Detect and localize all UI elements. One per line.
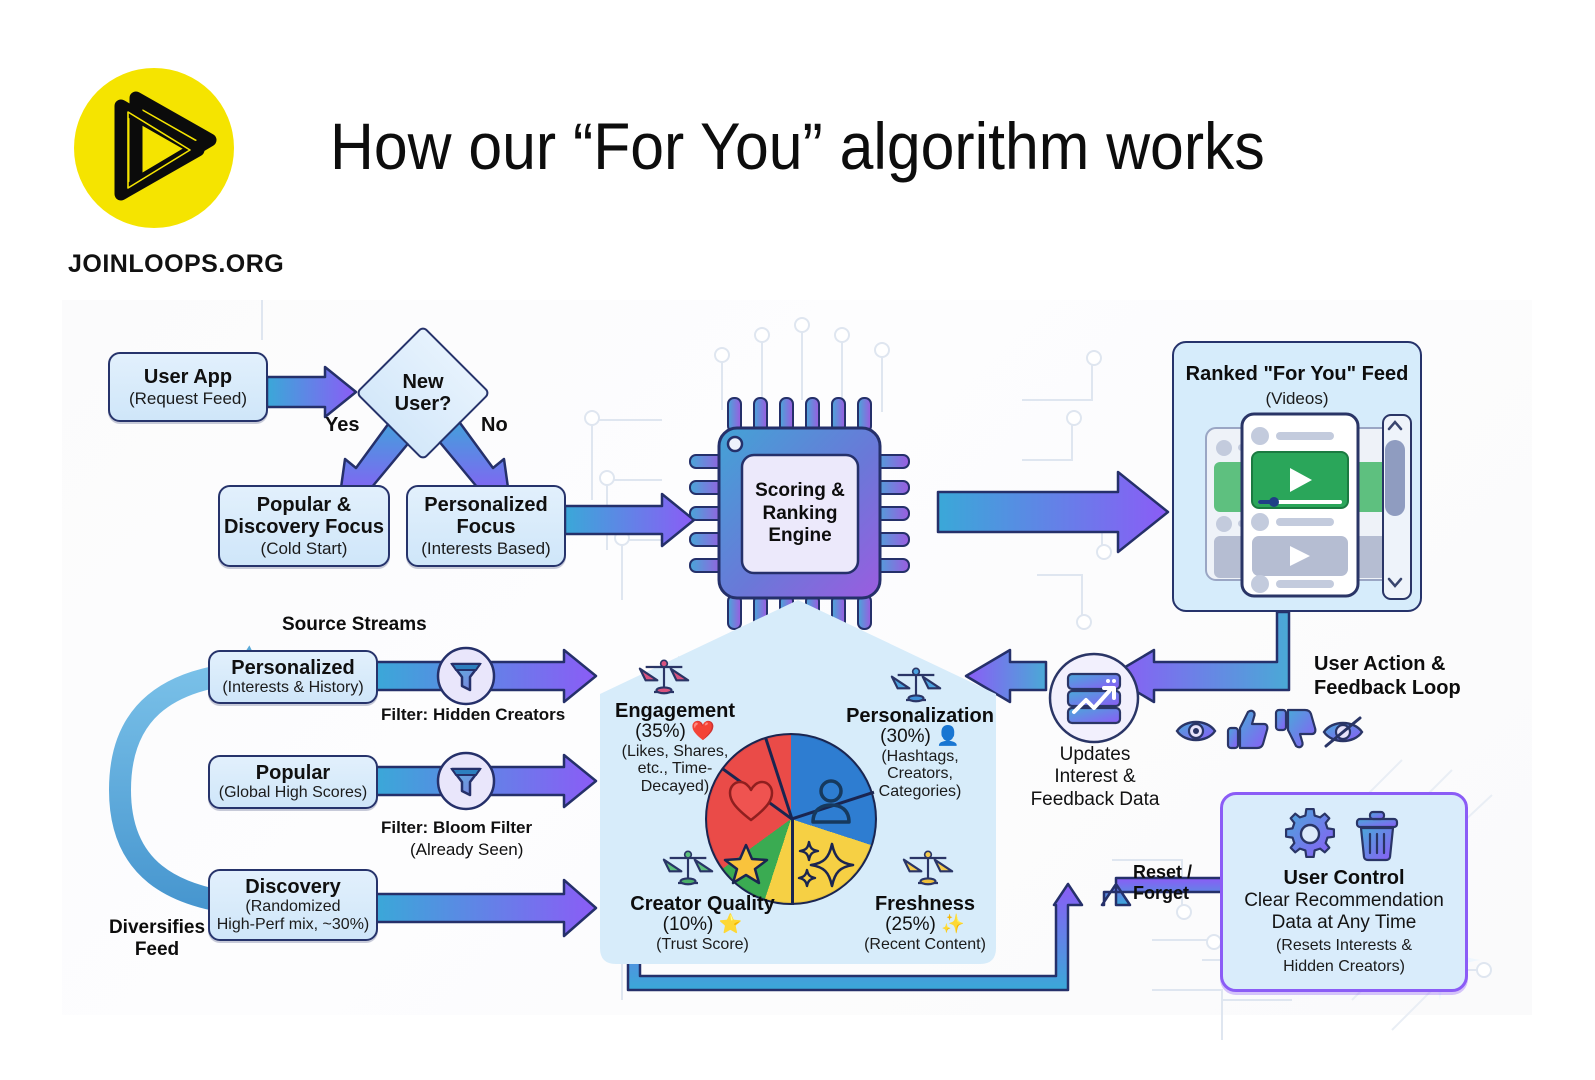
- infographic-canvas: JOINLOOPS.ORG How our “For You” algorith…: [0, 0, 1595, 1080]
- node-personalized-focus-sub: (Interests Based): [421, 539, 550, 558]
- sparkles-emoji-icon: ✨: [941, 914, 965, 935]
- user-control-note-1: (Resets Interests &: [1276, 937, 1412, 955]
- arrow-discovery-stream: [375, 880, 596, 936]
- feedback-loop-title-1: User Action &: [1314, 653, 1461, 677]
- user-control-line-2: Data at Any Time: [1272, 912, 1417, 934]
- diversifies-feed-label-2: Feed: [97, 939, 217, 961]
- wedge-freshness-pct-value: (25%): [885, 914, 936, 935]
- user-control-icons: [1279, 807, 1409, 863]
- node-stream-popular-title: Popular: [256, 762, 330, 784]
- node-cold-start-title-2: Discovery Focus: [224, 516, 384, 538]
- node-user-app-sub: (Request Feed): [129, 389, 247, 408]
- wedge-freshness-desc-1: (Recent Content): [840, 936, 1010, 954]
- wedge-personalization-name: Personalization: [840, 705, 1000, 727]
- scales-icon: [888, 665, 944, 705]
- wedge-engagement-desc-3: Decayed): [600, 778, 750, 796]
- node-user-app-title: User App: [144, 366, 232, 388]
- reset-forget-label: Reset / Forget: [1133, 862, 1192, 904]
- wedge-personalization-pct-value: (30%): [880, 726, 931, 747]
- wedge-personalization-desc-2: Creators,: [840, 765, 1000, 783]
- wedge-creator-quality-pct-value: (10%): [663, 914, 714, 935]
- arrow-userapp-to-decision: [267, 367, 356, 417]
- updates-interest-label: Updates Interest & Feedback Data: [1020, 744, 1170, 811]
- chevron-down-icon[interactable]: [1386, 574, 1404, 590]
- eye-icon[interactable]: [1174, 714, 1218, 748]
- user-control-note-2: Hidden Creators): [1283, 958, 1405, 976]
- wedge-personalization-desc-1: (Hashtags,: [840, 748, 1000, 766]
- diversifies-feed-label-1: Diversifies: [97, 917, 217, 939]
- funnel-icon[interactable]: [436, 751, 496, 811]
- wedge-label-freshness: Freshness (25%) ✨ (Recent Content): [840, 893, 1010, 953]
- reset-forget-label-2: Forget: [1133, 883, 1192, 904]
- updates-label-1: Updates: [1020, 744, 1170, 766]
- heart-emoji-icon: ❤️: [691, 721, 715, 742]
- wedge-engagement-pct: (35%) ❤️: [600, 722, 750, 743]
- wedge-label-creator-quality: Creator Quality (10%) ⭐ (Trust Score): [610, 893, 795, 953]
- scales-icon: [660, 848, 716, 888]
- feed-panel-title: Ranked "For You" Feed: [1174, 363, 1420, 386]
- updates-label-3: Feedback Data: [1020, 789, 1170, 811]
- feed-cards-stack[interactable]: [1196, 412, 1404, 598]
- node-cold-start-sub: (Cold Start): [261, 539, 348, 558]
- star-icon: [724, 843, 768, 885]
- filter-label-hidden-creators: Filter: Hidden Creators: [381, 705, 565, 725]
- node-stream-personalized-sub: (Interests & History): [222, 679, 363, 697]
- wedge-personalization-desc-3: Categories): [840, 783, 1000, 801]
- edge-label-yes: Yes: [325, 414, 359, 437]
- engine-label-2: Ranking: [763, 503, 838, 526]
- wedge-freshness-name: Freshness: [840, 893, 1010, 915]
- engine-label-1: Scoring &: [755, 480, 845, 503]
- user-control-panel[interactable]: User Control Clear Recommendation Data a…: [1220, 792, 1468, 992]
- decision-line-1: New: [402, 371, 443, 393]
- thumbs-up-icon[interactable]: [1226, 708, 1268, 750]
- person-emoji-icon: 👤: [936, 726, 960, 747]
- node-cold-start[interactable]: Popular & Discovery Focus (Cold Start): [218, 485, 390, 567]
- wedge-engagement-desc-1: (Likes, Shares,: [600, 743, 750, 761]
- node-personalized-focus[interactable]: Personalized Focus (Interests Based): [406, 485, 566, 567]
- funnel-icon[interactable]: [436, 646, 496, 706]
- user-control-line-1: Clear Recommendation: [1244, 890, 1444, 912]
- feedback-loop-title: User Action & Feedback Loop: [1314, 653, 1461, 700]
- node-user-app[interactable]: User App (Request Feed): [108, 352, 268, 422]
- diversifies-feed-label: Diversifies Feed: [97, 917, 217, 961]
- feed-panel-subtitle: (Videos): [1174, 389, 1420, 409]
- wedge-freshness-pct: (25%) ✨: [840, 915, 1010, 936]
- engine-label: Scoring & Ranking Engine: [742, 455, 858, 573]
- filter-label-bloom: Filter: Bloom Filter: [381, 818, 532, 838]
- decision-line-2: User?: [395, 393, 452, 415]
- reset-forget-label-1: Reset /: [1133, 862, 1192, 883]
- feed-scrollbar-thumb[interactable]: [1385, 440, 1405, 516]
- database-analytics-icon[interactable]: [1046, 650, 1142, 746]
- wedge-label-engagement: Engagement (35%) ❤️ (Likes, Shares, etc.…: [600, 700, 750, 796]
- star-emoji-icon: ⭐: [719, 914, 743, 935]
- node-stream-personalized[interactable]: Personalized (Interests & History): [208, 650, 378, 704]
- chevron-up-icon[interactable]: [1386, 418, 1404, 434]
- arrow-engine-to-feed: [938, 472, 1168, 552]
- node-stream-discovery-title: Discovery: [245, 876, 341, 898]
- node-stream-discovery-sub2: High-Perf mix, ~30%): [217, 916, 370, 934]
- node-stream-popular[interactable]: Popular (Global High Scores): [208, 755, 378, 809]
- user-control-title: User Control: [1283, 867, 1404, 890]
- eye-off-icon[interactable]: [1320, 714, 1366, 750]
- node-cold-start-title-1: Popular &: [257, 494, 351, 516]
- source-streams-heading: Source Streams: [282, 614, 427, 636]
- filter-label-bloom-sub: (Already Seen): [410, 840, 523, 860]
- node-stream-personalized-title: Personalized: [231, 657, 354, 679]
- wedge-creator-quality-desc-1: (Trust Score): [610, 936, 795, 954]
- node-personalized-focus-title-1: Personalized: [424, 494, 547, 516]
- engine-label-3: Engine: [768, 525, 831, 548]
- trash-icon: [1357, 812, 1397, 860]
- node-new-user-decision-label: New User?: [375, 345, 471, 441]
- sparkles-icon: [796, 838, 854, 890]
- gear-icon: [1286, 809, 1334, 857]
- wedge-creator-quality-pct: (10%) ⭐: [610, 915, 795, 936]
- wedge-creator-quality-name: Creator Quality: [610, 893, 795, 915]
- scales-icon: [636, 657, 692, 697]
- wedge-label-personalization: Personalization (30%) 👤 (Hashtags, Creat…: [840, 705, 1000, 801]
- arrow-personalized-to-engine: [565, 494, 694, 546]
- wedge-personalization-pct: (30%) 👤: [840, 727, 1000, 748]
- thumbs-down-icon[interactable]: [1274, 706, 1316, 750]
- edge-label-no: No: [481, 414, 508, 437]
- node-personalized-focus-title-2: Focus: [457, 516, 516, 538]
- scales-icon: [900, 848, 956, 888]
- node-stream-discovery[interactable]: Discovery (Randomized High-Perf mix, ~30…: [208, 869, 378, 941]
- feedback-loop-title-2: Feedback Loop: [1314, 677, 1461, 701]
- updates-label-2: Interest &: [1020, 766, 1170, 788]
- wedge-engagement-name: Engagement: [600, 700, 750, 722]
- node-stream-popular-sub: (Global High Scores): [219, 784, 368, 802]
- node-stream-discovery-sub: (Randomized: [245, 898, 340, 916]
- wedge-engagement-pct-value: (35%): [635, 721, 686, 742]
- wedge-engagement-desc-2: etc., Time-: [600, 760, 750, 778]
